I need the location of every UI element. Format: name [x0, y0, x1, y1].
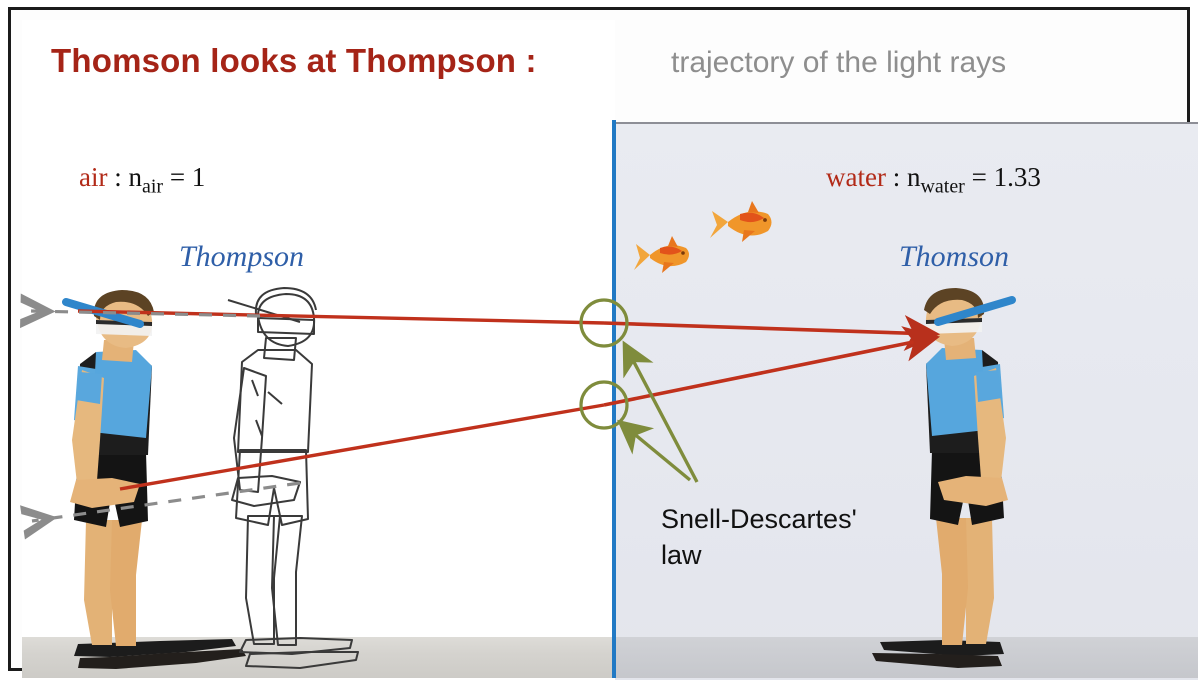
air-value: 1 — [192, 162, 206, 192]
water-value: 1.33 — [994, 162, 1041, 192]
air-separator: : — [107, 162, 128, 192]
snell-descartes-law-label: Snell-Descartes' law — [661, 502, 911, 573]
water-surface-edge — [615, 122, 1198, 124]
snell-law-line-2: law — [661, 538, 911, 574]
person-label-thompson: Thompson — [179, 240, 304, 274]
air-symbol: n — [129, 162, 143, 192]
water-index-label: water : nwater = 1.33 — [826, 162, 1041, 198]
person-label-thomson: Thomson — [899, 240, 1009, 274]
snell-law-line-1: Snell-Descartes' — [661, 502, 911, 538]
air-water-interface-line — [612, 120, 616, 678]
water-symbol: n — [907, 162, 921, 192]
water-medium-region — [615, 122, 1198, 680]
air-medium-region — [22, 20, 615, 678]
water-equals: = — [965, 162, 994, 192]
ground-strip-right — [615, 637, 1198, 678]
page-subtitle: trajectory of the light rays — [671, 46, 1006, 80]
water-subscript: water — [920, 175, 964, 197]
air-index-label: air : nair = 1 — [79, 162, 205, 198]
water-separator: : — [886, 162, 907, 192]
air-equals: = — [163, 162, 192, 192]
water-medium-name: water — [826, 162, 886, 192]
air-medium-name: air — [79, 162, 107, 192]
page-title: Thomson looks at Thompson : — [51, 42, 537, 80]
diagram-frame: Thomson looks at Thompson : trajectory o… — [8, 7, 1190, 671]
diagram-canvas: Thomson looks at Thompson : trajectory o… — [0, 0, 1200, 685]
air-subscript: air — [142, 175, 163, 197]
